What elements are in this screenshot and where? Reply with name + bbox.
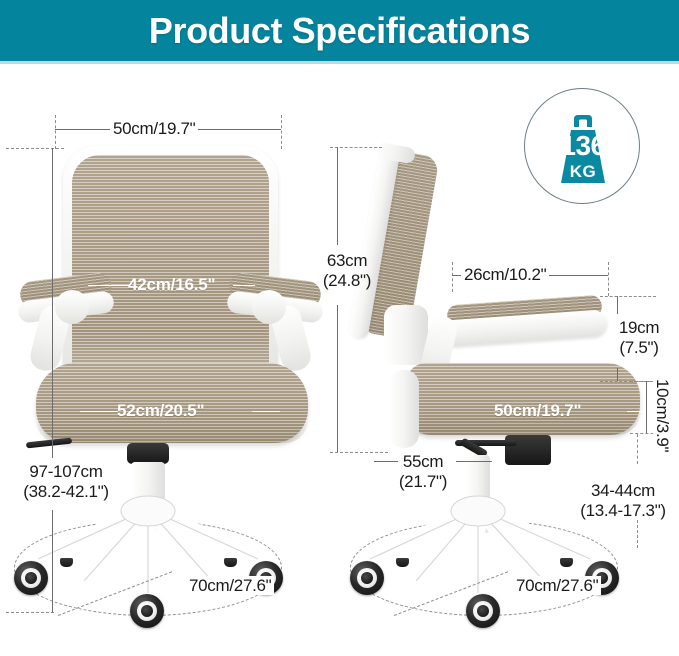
guide-line (646, 381, 647, 433)
guide-line (337, 147, 338, 245)
caster-stem (560, 558, 573, 567)
seat-mechanism (127, 443, 169, 464)
dimension-base-diameter-front: 70cm/27.6" (186, 576, 274, 595)
caster-core (361, 572, 373, 584)
dimension-armrest-height: 19cm (7.5") (610, 318, 668, 358)
header-banner: Product Specifications (0, 0, 679, 61)
caster-stem (396, 558, 409, 567)
weight-value: 136 (551, 132, 615, 160)
guide-line (80, 411, 118, 412)
guide-line (627, 411, 643, 412)
guide-line (617, 296, 618, 314)
dimension-base-diameter-side: 70cm/27.6" (513, 576, 601, 595)
dimension-backrest-width: 50cm/19.7" (110, 119, 198, 138)
header-divider (0, 61, 679, 64)
guide-line (52, 148, 53, 458)
guide-line (55, 115, 56, 149)
weight-unit: KG (551, 163, 615, 180)
guide-line (281, 115, 282, 149)
guide-line (600, 296, 656, 297)
guide-line (617, 368, 618, 381)
armrest-right-pivot (252, 290, 286, 324)
guide-line (233, 285, 255, 286)
dimension-seat-height-range: 34-44cm (13.4-17.3") (568, 481, 678, 521)
guide-line (608, 262, 609, 296)
caster-stem (224, 558, 237, 567)
guide-line (6, 148, 64, 149)
caster-stem (60, 558, 73, 567)
dimension-overall-height: 97-107cm (38.2-42.1") (5, 462, 127, 502)
dimension-seat-depth: 50cm/19.7" (494, 401, 581, 420)
guide-line (452, 262, 453, 292)
dimension-seat-to-back: 55cm (21.7") (382, 452, 464, 492)
dimension-backrest-height: 63cm (24.8") (316, 251, 378, 291)
guide-line (337, 305, 338, 452)
page-title: Product Specifications (149, 13, 530, 49)
dimension-armrest-length: 26cm/10.2" (461, 265, 549, 284)
dimension-seat-thickness: 10cm/3.9" (653, 376, 672, 455)
guide-line (252, 411, 280, 412)
guide-line (52, 510, 53, 612)
seat-shadow (36, 420, 308, 443)
guide-line (637, 434, 638, 464)
guide-line (6, 612, 54, 613)
guide-line (330, 452, 388, 453)
dimension-seat-width: 52cm/20.5" (117, 401, 204, 420)
guide-line (637, 520, 638, 548)
armrest-left-pivot (55, 290, 89, 324)
caster-core (141, 605, 153, 617)
tilt-lever (26, 438, 72, 449)
guide-line (88, 285, 130, 286)
caster-core (25, 572, 37, 584)
dimension-backrest-inner-width: 42cm/16.5" (128, 275, 215, 294)
seat-side-panel (389, 370, 419, 448)
caster-core (477, 605, 489, 617)
